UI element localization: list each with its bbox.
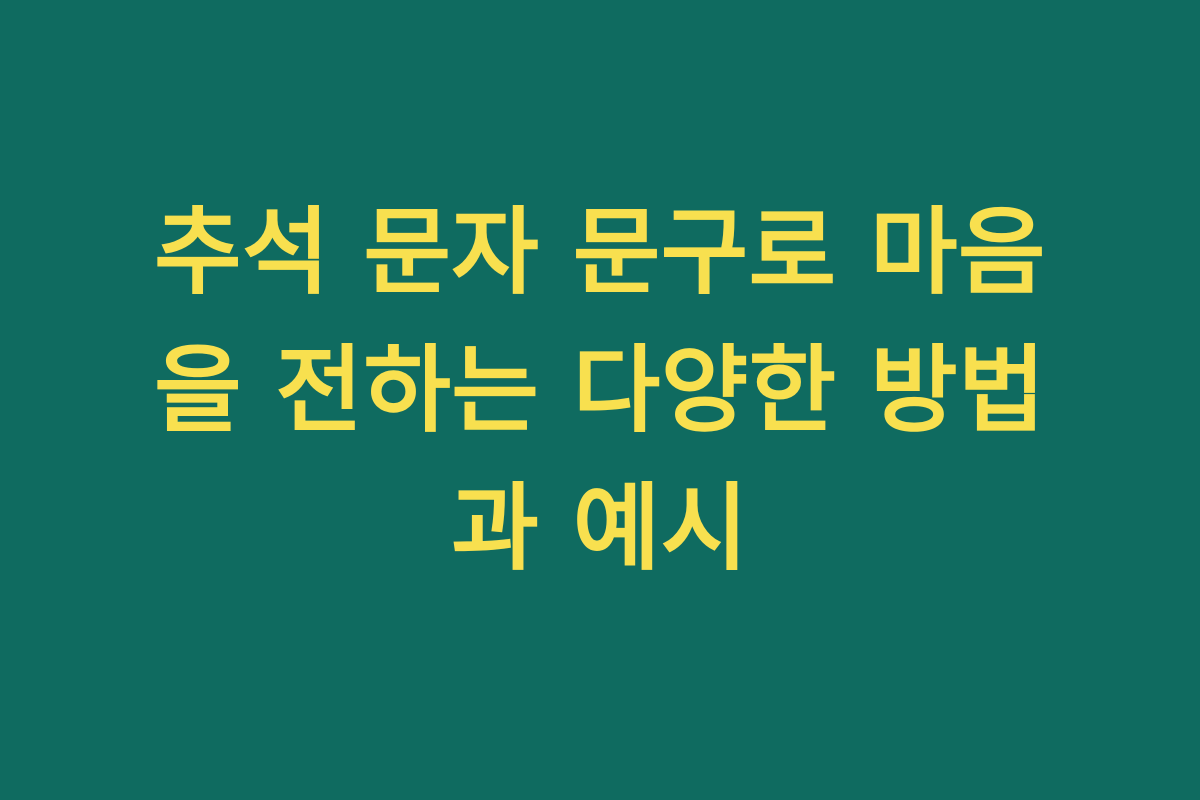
headline-line-1: 추석 문자 문구로 마음 xyxy=(120,185,1080,323)
headline-block: 추석 문자 문구로 마음 을 전하는 다양한 방법 과 예시 xyxy=(120,185,1080,598)
headline-line-2: 을 전하는 다양한 방법 xyxy=(120,323,1080,461)
headline-line-3: 과 예시 xyxy=(120,461,1080,599)
thumbnail-card: 추석 문자 문구로 마음 을 전하는 다양한 방법 과 예시 xyxy=(0,0,1200,800)
